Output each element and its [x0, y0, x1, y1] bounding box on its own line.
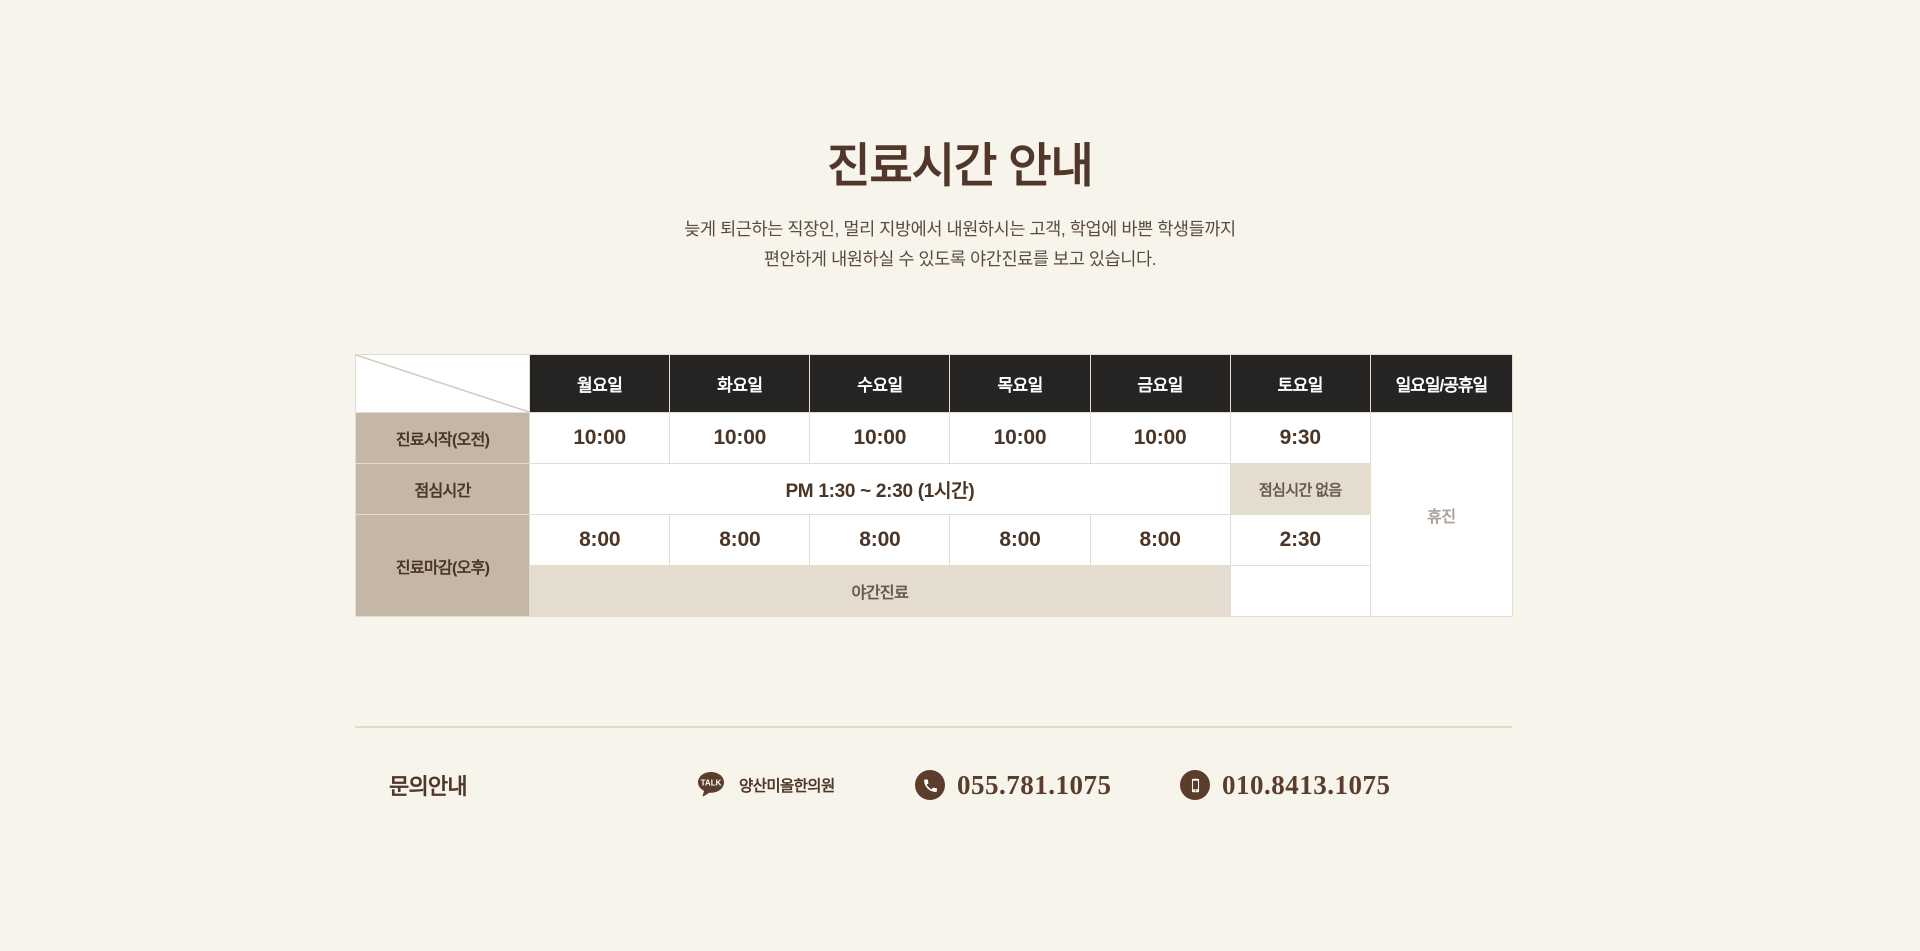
phone-icon: [915, 770, 945, 800]
row-label-morning: 진료시작(오전): [356, 413, 530, 464]
diagonal-slash-icon: [356, 355, 530, 413]
mobile-number: 010.8413.1075: [1222, 770, 1391, 801]
cell-night-clinic: 야간진료: [530, 566, 1231, 617]
schedule-table-wrapper: 월요일 화요일 수요일 목요일 금요일 토요일 일요일/공휴일 진료시작(오전)…: [355, 354, 1513, 617]
column-header-monday: 월요일: [530, 355, 670, 413]
cell-morning-thu: 10:00: [950, 413, 1090, 464]
table-row-lunch: 점심시간 PM 1:30 ~ 2:30 (1시간) 점심시간 없음: [356, 464, 1513, 515]
cell-evening-thu: 8:00: [950, 515, 1090, 566]
cell-evening-tue: 8:00: [670, 515, 810, 566]
page-subtitle: 늦게 퇴근하는 직장인, 멀리 지방에서 내원하시는 고객, 학업에 바쁜 학생…: [0, 214, 1920, 275]
page-title: 진료시간 안내: [0, 140, 1920, 192]
contact-telephone[interactable]: 055.781.1075: [915, 770, 1180, 801]
column-header-thursday: 목요일: [950, 355, 1090, 413]
cell-morning-sat: 9:30: [1230, 413, 1370, 464]
cell-lunch-sat: 점심시간 없음: [1230, 464, 1370, 515]
cell-morning-wed: 10:00: [810, 413, 950, 464]
cell-evening-fri: 8:00: [1090, 515, 1230, 566]
contact-mobile[interactable]: 010.8413.1075: [1180, 770, 1391, 801]
cell-evening-wed: 8:00: [810, 515, 950, 566]
cell-evening-sat: 2:30: [1230, 515, 1370, 566]
table-row-morning: 진료시작(오전) 10:00 10:00 10:00 10:00 10:00 9…: [356, 413, 1513, 464]
page-header: 진료시간 안내 늦게 퇴근하는 직장인, 멀리 지방에서 내원하시는 고객, 학…: [0, 0, 1920, 275]
contact-section-title: 문의안내: [355, 769, 695, 801]
svg-text:TALK: TALK: [701, 779, 722, 788]
cell-lunch-weekdays: PM 1:30 ~ 2:30 (1시간): [530, 464, 1231, 515]
column-header-wednesday: 수요일: [810, 355, 950, 413]
cell-night-sat-empty: [1230, 566, 1370, 617]
table-row-evening: 진료마감(오후) 8:00 8:00 8:00 8:00 8:00 2:30: [356, 515, 1513, 566]
column-header-friday: 금요일: [1090, 355, 1230, 413]
cell-sunday-closed: 휴진: [1370, 413, 1512, 617]
contact-footer: 문의안내 TALK 양산미올한의원 055.781.1075: [355, 755, 1512, 815]
cell-morning-tue: 10:00: [670, 413, 810, 464]
cell-morning-fri: 10:00: [1090, 413, 1230, 464]
subtitle-line-2: 편안하게 내원하실 수 있도록 야간진료를 보고 있습니다.: [0, 244, 1920, 275]
kakaotalk-icon: TALK: [695, 769, 727, 801]
table-header-row: 월요일 화요일 수요일 목요일 금요일 토요일 일요일/공휴일: [356, 355, 1513, 413]
cell-evening-mon: 8:00: [530, 515, 670, 566]
subtitle-line-1: 늦게 퇴근하는 직장인, 멀리 지방에서 내원하시는 고객, 학업에 바쁜 학생…: [0, 214, 1920, 245]
table-row-night: 야간진료: [356, 566, 1513, 617]
column-header-sunday-holiday: 일요일/공휴일: [1370, 355, 1512, 413]
contact-kakao[interactable]: TALK 양산미올한의원: [695, 769, 915, 801]
schedule-table: 월요일 화요일 수요일 목요일 금요일 토요일 일요일/공휴일 진료시작(오전)…: [355, 354, 1513, 617]
row-label-lunch: 점심시간: [356, 464, 530, 515]
mobile-icon: [1180, 770, 1210, 800]
kakao-label: 양산미올한의원: [739, 774, 835, 796]
footer-divider: [355, 726, 1512, 728]
telephone-number: 055.781.1075: [957, 770, 1112, 801]
column-header-saturday: 토요일: [1230, 355, 1370, 413]
clinic-hours-page: 진료시간 안내 늦게 퇴근하는 직장인, 멀리 지방에서 내원하시는 고객, 학…: [0, 0, 1920, 951]
row-label-evening: 진료마감(오후): [356, 515, 530, 617]
cell-morning-mon: 10:00: [530, 413, 670, 464]
column-header-tuesday: 화요일: [670, 355, 810, 413]
